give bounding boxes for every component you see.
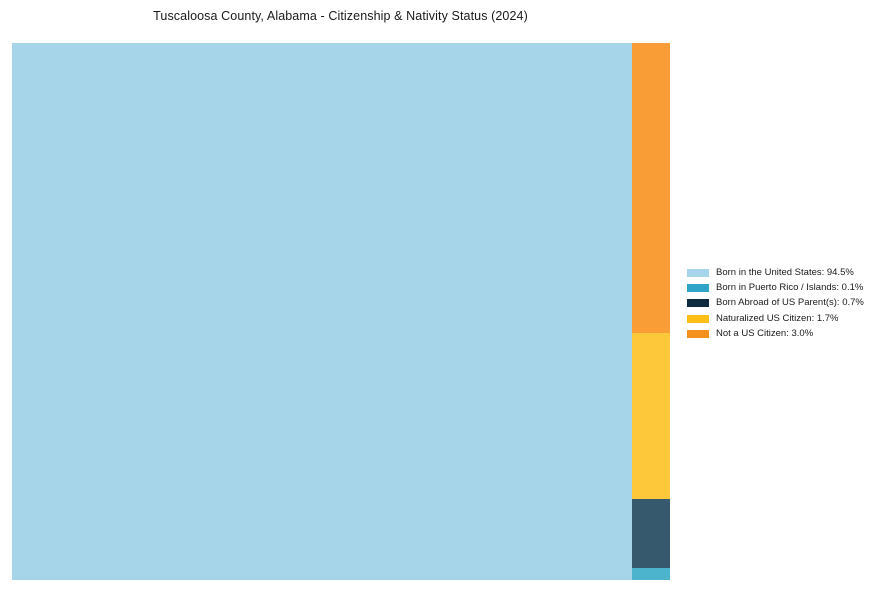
legend-item-label: Born Abroad of US Parent(s): 0.7%	[716, 298, 864, 308]
legend-swatch-icon	[687, 299, 709, 307]
treemap-tile[interactable]	[632, 43, 670, 333]
treemap-chart: Tuscaloosa County, Alabama - Citizenship…	[0, 0, 889, 590]
legend-item[interactable]: Naturalized US Citizen: 1.7%	[687, 311, 883, 326]
treemap-tile[interactable]	[12, 43, 632, 580]
chart-title: Tuscaloosa County, Alabama - Citizenship…	[0, 9, 681, 23]
legend-swatch-icon	[687, 330, 709, 338]
chart-legend: Born in the United States: 94.5%Born in …	[687, 265, 883, 341]
treemap-plot-area	[12, 43, 670, 580]
legend-swatch-icon	[687, 284, 709, 292]
legend-item[interactable]: Not a US Citizen: 3.0%	[687, 326, 883, 341]
legend-swatch-icon	[687, 315, 709, 323]
legend-swatch-icon	[687, 269, 709, 277]
treemap-tile[interactable]	[632, 333, 670, 499]
treemap-tile[interactable]	[632, 568, 670, 580]
legend-item[interactable]: Born in the United States: 94.5%	[687, 265, 883, 280]
legend-item-label: Naturalized US Citizen: 1.7%	[716, 314, 839, 324]
treemap-tile[interactable]	[632, 499, 670, 568]
legend-item-label: Born in Puerto Rico / Islands: 0.1%	[716, 283, 863, 293]
legend-item-label: Not a US Citizen: 3.0%	[716, 329, 813, 339]
legend-item-label: Born in the United States: 94.5%	[716, 268, 854, 278]
legend-item[interactable]: Born in Puerto Rico / Islands: 0.1%	[687, 280, 883, 295]
legend-item[interactable]: Born Abroad of US Parent(s): 0.7%	[687, 296, 883, 311]
